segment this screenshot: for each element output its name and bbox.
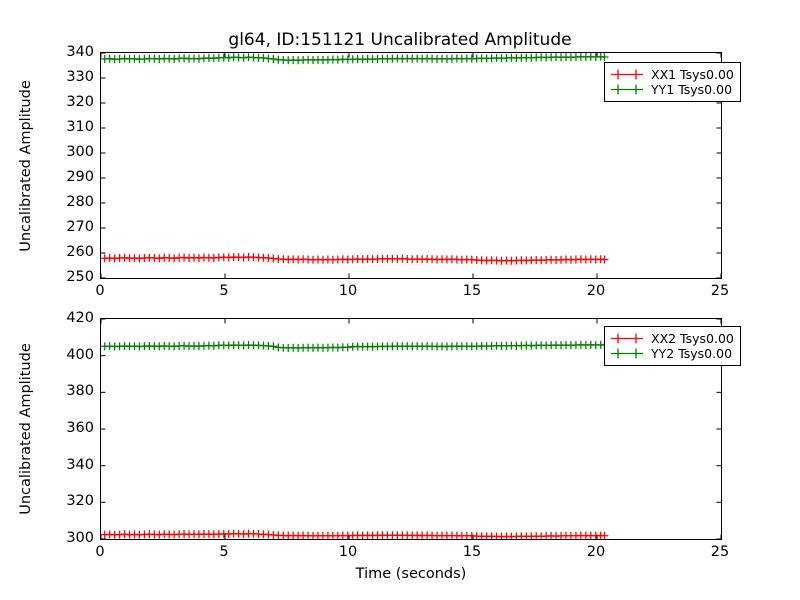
y-tick-label: 280 [48, 195, 94, 210]
y-tick-label: 290 [48, 170, 94, 185]
x-tick-label: 15 [452, 544, 492, 560]
legend-label-xx2: XX2 Tsys0.00 [651, 332, 734, 345]
y-tick-label: 340 [48, 458, 94, 473]
legend-item: XX2 Tsys0.00 [610, 331, 734, 346]
series-markers-yy1 [101, 53, 608, 64]
x-tick-labels-bottom: 0510152025 [100, 544, 722, 564]
x-tick-label: 25 [700, 544, 740, 560]
legend-label-xx1: XX1 Tsys0.00 [651, 68, 734, 81]
legend-item: YY2 Tsys0.00 [610, 346, 734, 361]
y-tick-label: 400 [48, 348, 94, 363]
x-tick-label: 20 [576, 283, 616, 299]
x-axis-label: Time (seconds) [100, 566, 722, 582]
legend-item: XX1 Tsys0.00 [610, 67, 734, 82]
x-tick-label: 0 [80, 283, 120, 299]
legend-line-sample-yy1 [610, 83, 644, 96]
y-tick-labels-top: 250260270280290300310320330340 [42, 52, 94, 279]
legend-bottom: XX2 Tsys0.00 YY2 Tsys0.00 [604, 326, 741, 366]
y-tick-label: 260 [48, 245, 94, 260]
legend-label-yy2: YY2 Tsys0.00 [651, 347, 732, 360]
series-markers-yy2 [101, 341, 608, 352]
y-tick-label: 320 [48, 494, 94, 509]
x-tick-labels-top: 0510152025 [100, 283, 722, 303]
y-tick-label: 320 [48, 95, 94, 110]
series-markers-xx1 [101, 253, 608, 265]
y-tick-label: 380 [48, 384, 94, 399]
y-tick-label: 300 [48, 145, 94, 160]
legend-line-sample-xx2 [610, 332, 644, 345]
legend-top: XX1 Tsys0.00 YY1 Tsys0.00 [604, 62, 741, 102]
y-axis-label-top: Uncalibrated Amplitude [18, 46, 34, 286]
y-tick-label: 360 [48, 421, 94, 436]
matplotlib-figure: gl64, ID:151121 Uncalibrated Amplitude 2… [0, 0, 800, 600]
y-axis-label-bottom: Uncalibrated Amplitude [18, 309, 34, 549]
legend-item: YY1 Tsys0.00 [610, 82, 734, 97]
legend-line-sample-yy2 [610, 347, 644, 360]
page-title: gl64, ID:151121 Uncalibrated Amplitude [0, 30, 800, 50]
x-tick-label: 0 [80, 544, 120, 560]
y-tick-label: 420 [48, 311, 94, 326]
y-tick-label: 270 [48, 220, 94, 235]
y-tick-label: 310 [48, 120, 94, 135]
legend-label-yy1: YY1 Tsys0.00 [651, 83, 732, 96]
x-tick-label: 15 [452, 283, 492, 299]
legend-line-sample-xx1 [610, 68, 644, 81]
series-markers-xx2 [101, 530, 608, 539]
y-tick-labels-bottom: 300320340360380400420 [42, 318, 94, 540]
x-tick-label: 10 [328, 544, 368, 560]
x-tick-label: 25 [700, 283, 740, 299]
x-tick-label: 5 [204, 283, 244, 299]
x-tick-label: 20 [576, 544, 616, 560]
x-tick-label: 5 [204, 544, 244, 560]
x-tick-label: 10 [328, 283, 368, 299]
y-tick-label: 340 [48, 45, 94, 60]
y-tick-label: 330 [48, 70, 94, 85]
